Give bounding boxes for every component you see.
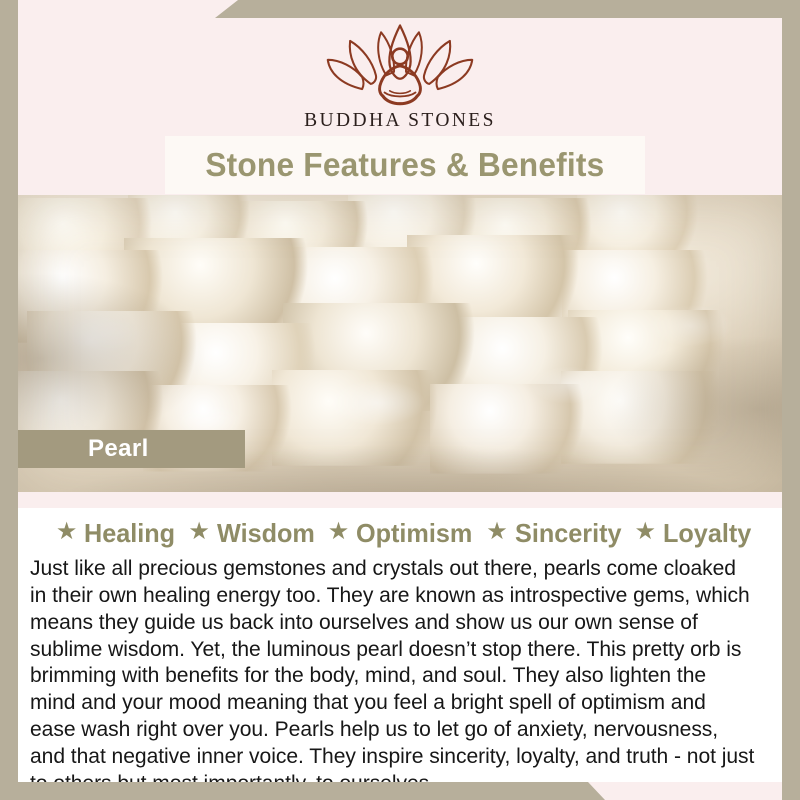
benefit-label: Sincerity: [515, 518, 622, 549]
star-icon: ★: [486, 520, 508, 544]
lotus-meditation-icon: [312, 22, 488, 108]
star-icon: ★: [56, 520, 78, 544]
benefit-label: Loyalty: [663, 518, 751, 549]
benefit-label: Wisdom: [217, 518, 315, 549]
pearl-photo: Pearl: [18, 195, 782, 492]
benefit-item: ★ Optimism: [318, 518, 476, 549]
star-icon: ★: [188, 520, 210, 544]
benefit-item: ★ Loyalty: [625, 518, 755, 549]
frame-top-strip: [215, 0, 800, 18]
benefit-item: ★ Wisdom: [178, 518, 317, 549]
brand-block: BUDDHA STONES: [18, 22, 782, 144]
benefit-label: Healing: [84, 518, 175, 549]
benefits-row: ★ Healing ★ Wisdom ★ Optimism ★ Sincerit…: [18, 508, 782, 554]
stone-name-label: Pearl: [18, 435, 149, 463]
frame-right-strip: [782, 0, 800, 800]
frame-bottom-strip: [0, 782, 605, 800]
frame-left-strip: [0, 0, 18, 800]
page-title: Stone Features & Benefits: [205, 146, 604, 184]
stone-benefits-infographic: BUDDHA STONES Pearl Stone Features & Ben…: [0, 0, 800, 800]
stone-name-tag: Pearl: [18, 430, 245, 468]
brand-name: BUDDHA STONES: [304, 110, 496, 132]
content-panel: ★ Healing ★ Wisdom ★ Optimism ★ Sincerit…: [18, 508, 782, 782]
page-surface: BUDDHA STONES Pearl Stone Features & Ben…: [18, 18, 782, 782]
benefit-item: ★ Sincerity: [476, 518, 624, 549]
star-icon: ★: [328, 520, 350, 544]
title-banner: Stone Features & Benefits: [165, 136, 645, 194]
benefit-item: ★ Healing: [46, 518, 178, 549]
description-text: Just like all precious gemstones and cry…: [30, 555, 755, 782]
star-icon: ★: [635, 520, 657, 544]
benefit-label: Optimism: [356, 518, 472, 549]
